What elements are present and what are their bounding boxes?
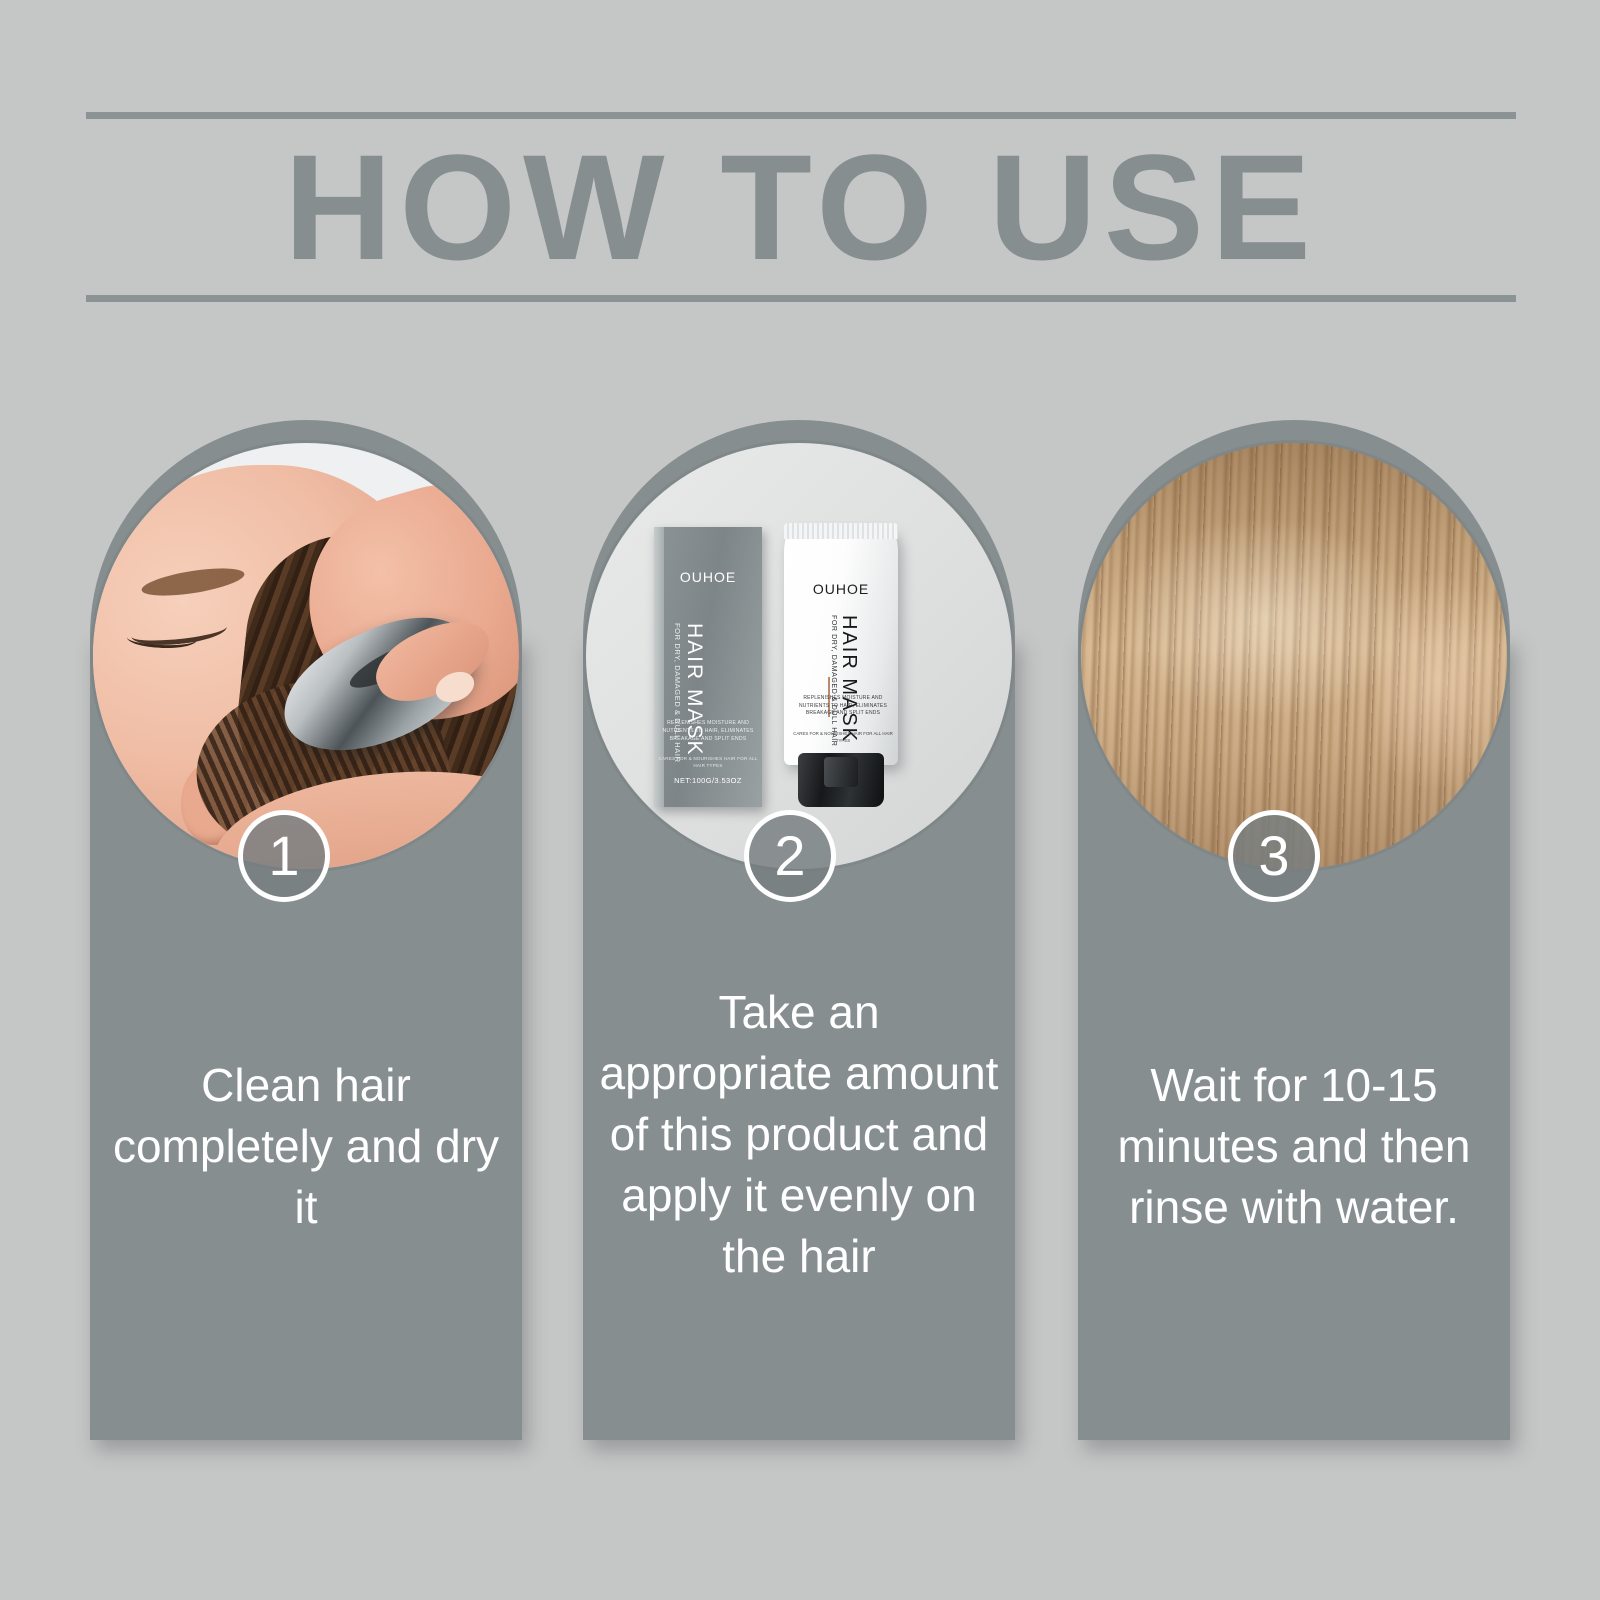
step-caption-3: Wait for 10-15 minutes and then rinse wi… — [1078, 1055, 1510, 1238]
product-tube-benefits: REPLENISHES MOISTURE AND NUTRIENTS TO HA… — [790, 695, 896, 718]
step-caption-2: Take an appropriate amount of this produ… — [583, 982, 1015, 1287]
product-box-brand: OUHOE — [654, 569, 762, 585]
product-shot-illustration: OUHOE HAIR MASK FOR DRY, DAMAGED & DULL … — [586, 443, 1012, 869]
product-box: OUHOE HAIR MASK FOR DRY, DAMAGED & DULL … — [654, 527, 762, 807]
product-tube-brand: OUHOE — [784, 581, 898, 597]
product-box-net-weight: NET:100G/3.53OZ — [654, 776, 762, 785]
product-tube: OUHOE HAIR MASK FOR DRY, DAMAGED & DULL … — [782, 511, 900, 807]
step-badge-2: 2 — [744, 810, 836, 902]
product-tube-body: OUHOE HAIR MASK FOR DRY, DAMAGED & DULL … — [784, 527, 898, 765]
step-badge-3: 3 — [1228, 810, 1320, 902]
product-tube-benefits-2: CARES FOR & NOURISHES HAIR FOR ALL HAIR … — [790, 731, 896, 744]
product-tube-subtitle: FOR DRY, DAMAGED & DULL HAIR — [829, 615, 838, 746]
product-box-benefits-2: CARES FOR & NOURISHES HAIR FOR ALL HAIR … — [654, 755, 762, 769]
blonde-hair-illustration — [1081, 443, 1507, 869]
product-tube-name: HAIR MASK — [837, 615, 860, 743]
hair-side-highlight — [1379, 571, 1510, 793]
product-tube-cap — [798, 753, 884, 807]
step-1-photo — [90, 440, 522, 872]
hair-sheen-highlight — [1115, 520, 1413, 716]
wet-hair-treatment-illustration — [93, 443, 519, 869]
product-box-benefits: REPLENISHES MOISTURE AND NUTRIENTS TO HA… — [654, 719, 762, 743]
step-badge-1: 1 — [238, 810, 330, 902]
step-3-photo — [1078, 440, 1510, 872]
steps-container: 1 Clean hair completely and dry it OUHOE… — [0, 0, 1600, 1600]
step-caption-1: Clean hair completely and dry it — [90, 1055, 522, 1238]
step-2-photo: OUHOE HAIR MASK FOR DRY, DAMAGED & DULL … — [583, 440, 1015, 872]
product-tube-crimp-seal — [784, 523, 898, 539]
